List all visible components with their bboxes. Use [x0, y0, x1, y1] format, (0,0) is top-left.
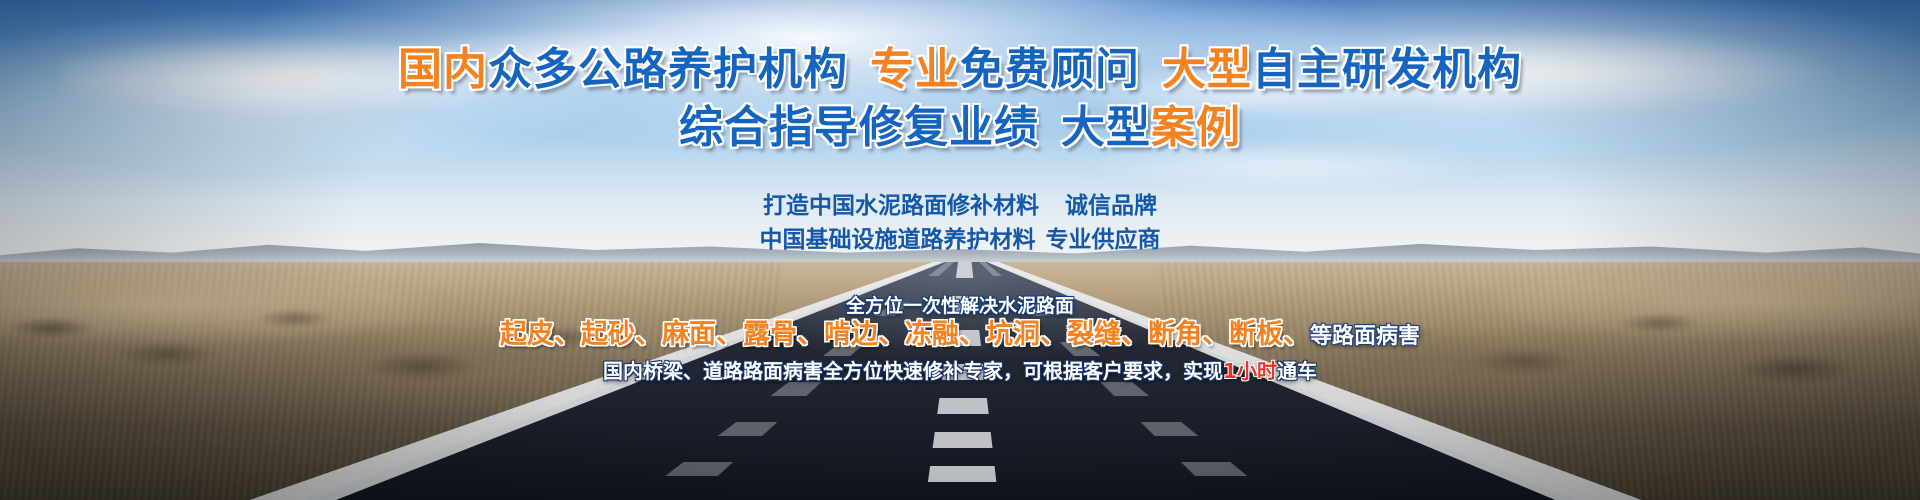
headline-seg-zonghe: 综合指导修复业绩	[679, 102, 1039, 153]
headline-line-1: 国内众多公路养护机构专业免费顾问大型自主研发机构	[0, 44, 1920, 96]
subhead-2b: 专业供应商	[1046, 227, 1161, 253]
headline-seg-daxing: 大型	[1162, 44, 1252, 95]
subhead-2a: 中国基础设施道路养护材料	[760, 227, 1036, 253]
headline-seg-zhongduo: 众多公路养护机构	[488, 44, 848, 95]
headline-seg-zizhu: 自主研发机构	[1252, 44, 1522, 95]
bottom-defects-line: 起皮、起砂、麻面、露骨、啃边、冻融、坑洞、裂缝、断角、断板、等路面病害	[0, 318, 1920, 354]
subhead-line-1: 打造中国水泥路面修补材料诚信品牌	[0, 192, 1920, 220]
subhead-1b: 诚信品牌	[1065, 193, 1157, 219]
subhead-1a: 打造中国水泥路面修补材料	[763, 193, 1039, 219]
headline-seg-guonei: 国内	[398, 44, 488, 95]
tagline-part-a: 国内桥梁、道路路面病害全方位快速修补专家，可根据客户要求，实现	[603, 359, 1223, 383]
bottom-tagline: 国内桥梁、道路路面病害全方位快速修补专家，可根据客户要求，实现1小时通车	[0, 358, 1920, 384]
headline-seg-anli: 案例	[1151, 102, 1241, 153]
subhead-line-2: 中国基础设施道路养护材料专业供应商	[0, 226, 1920, 254]
bottom-intro-line: 全方位一次性解决水泥路面	[0, 294, 1920, 318]
headline-line-2: 综合指导修复业绩大型案例	[0, 102, 1920, 154]
headline-seg-mianfei: 免费顾问	[960, 44, 1140, 95]
defect-list: 起皮、起砂、麻面、露骨、啃边、冻融、坑洞、裂缝、断角、断板、	[500, 319, 1310, 350]
headline-seg-zhuanye: 专业	[870, 44, 960, 95]
headline-seg-daxing-2: 大型	[1061, 102, 1151, 153]
text-overlay-layer: 国内众多公路养护机构专业免费顾问大型自主研发机构 综合指导修复业绩大型案例 打造…	[0, 0, 1920, 500]
tagline-part-b: 通车	[1277, 359, 1317, 383]
defect-suffix: 等路面病害	[1310, 324, 1420, 349]
tagline-highlight: 1小时	[1223, 359, 1277, 383]
promo-banner: 国内众多公路养护机构专业免费顾问大型自主研发机构 综合指导修复业绩大型案例 打造…	[0, 0, 1920, 500]
